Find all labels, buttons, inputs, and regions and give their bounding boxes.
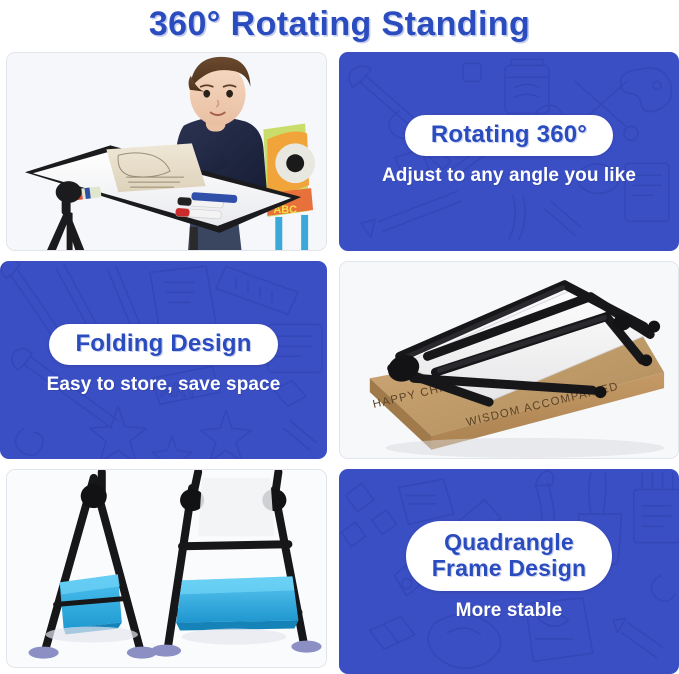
folded-easel-illustration: HAPPY CHILDHOOD WISDOM ACCOMPANIED (340, 262, 678, 459)
feature-quadrangle-content: Quadrangle Frame Design More stable (339, 469, 679, 674)
photo-frame-legs (6, 469, 327, 668)
frame-legs-illustration (7, 470, 326, 667)
cell-top-left: ABC (0, 48, 333, 257)
feature-rotating-panel: Rotating 360° Adjust to any angle you li… (339, 52, 679, 251)
photo-folded-easel: HAPPY CHILDHOOD WISDOM ACCOMPANIED (339, 261, 679, 460)
photo-child-drawing: ABC (6, 52, 327, 251)
header: 360° Rotating Standing (0, 0, 679, 48)
feature-rotating-pill: Rotating 360° (405, 115, 613, 156)
page-title: 360° Rotating Standing (149, 5, 530, 44)
feature-quadrangle-panel: Quadrangle Frame Design More stable (339, 469, 679, 674)
cell-bottom-right: Quadrangle Frame Design More stable (333, 465, 679, 674)
feature-folding-content: Folding Design Easy to store, save space (0, 261, 327, 460)
feature-folding-sub: Easy to store, save space (47, 374, 281, 396)
cell-middle-right: HAPPY CHILDHOOD WISDOM ACCOMPANIED (333, 257, 679, 466)
feature-quadrangle-sub: More stable (456, 600, 563, 622)
cell-middle-left: ART Folding Design Easy to store, save s… (0, 257, 333, 466)
feature-folding-pill: Folding Design (49, 324, 277, 365)
cell-top-right: Rotating 360° Adjust to any angle you li… (333, 48, 679, 257)
feature-rotating-sub: Adjust to any angle you like (382, 165, 636, 187)
feature-folding-panel: ART Folding Design Easy to store, save s… (0, 261, 327, 460)
infographic-sheet: 360° Rotating Standing (0, 0, 679, 674)
cell-bottom-left (0, 465, 333, 674)
child-drawing-illustration: ABC (7, 53, 326, 250)
feature-rotating-content: Rotating 360° Adjust to any angle you li… (339, 52, 679, 251)
panel-grid: ABC (0, 48, 679, 674)
feature-quadrangle-pill: Quadrangle Frame Design (406, 521, 613, 591)
